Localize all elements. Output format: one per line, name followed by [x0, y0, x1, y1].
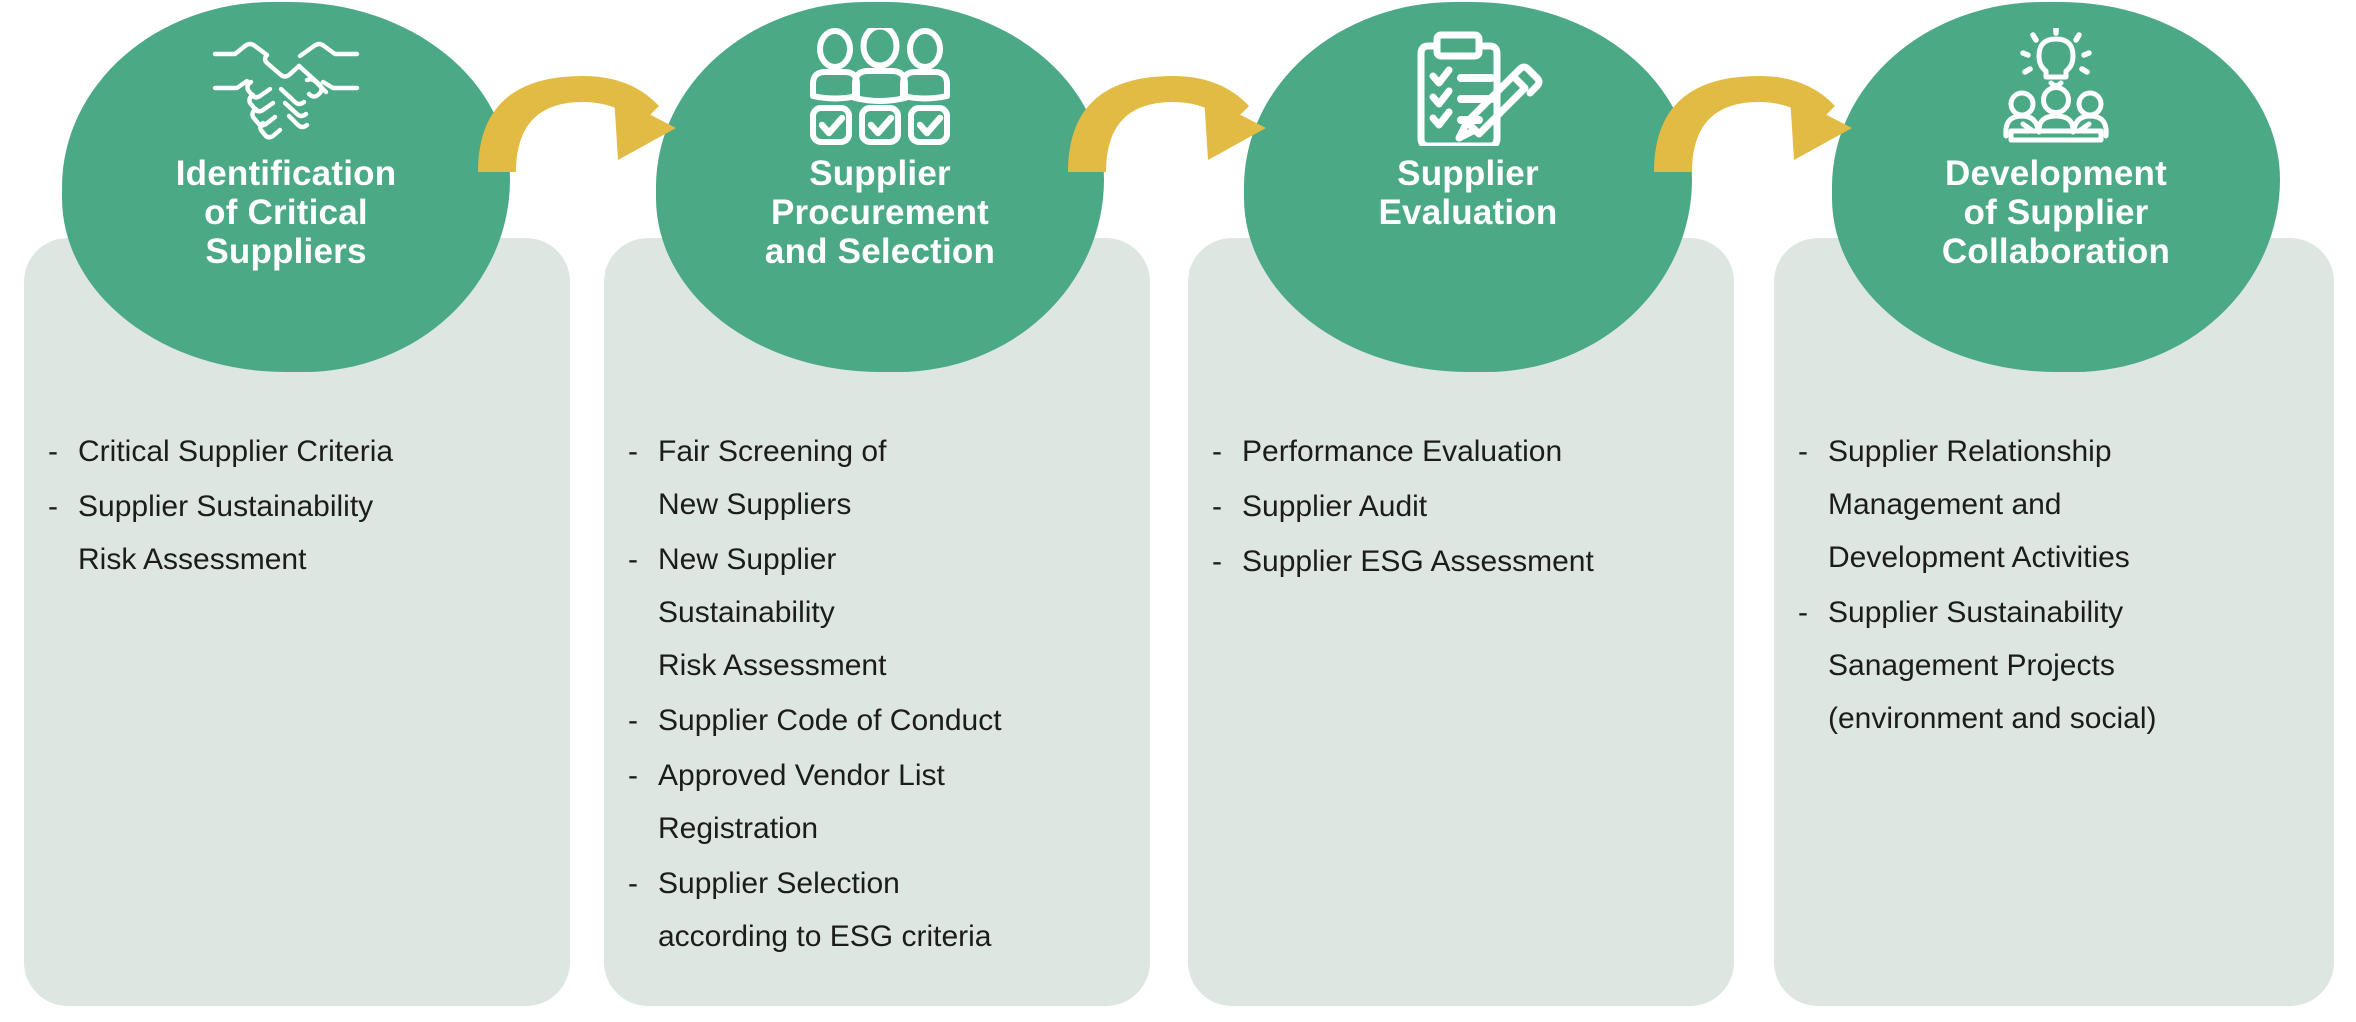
list-item-text: Supplier Sustainability Risk Assessment [78, 480, 548, 586]
list-item: - Supplier Sustainability Risk Assessmen… [48, 480, 548, 586]
step-title-2: Supplier Procurement and Selection [765, 154, 995, 271]
bullet-marker: - [1798, 586, 1828, 639]
list-item-text: Performance Evaluation [1242, 425, 1722, 478]
step-title-4: Development of Supplier Collaboration [1942, 154, 2170, 271]
people-checklist-icon [805, 28, 955, 146]
bullet-marker: - [1798, 425, 1828, 478]
step-bullets-2: - Fair Screening of New Suppliers - New … [628, 425, 1138, 965]
bullet-marker: - [628, 694, 658, 747]
step-title-1: Identification of Critical Suppliers [176, 154, 397, 271]
list-item: - Supplier Selection according to ESG cr… [628, 857, 1138, 963]
list-item-text: Supplier Code of Conduct [658, 694, 1138, 747]
list-item: - Supplier Sustainability Sanagement Pro… [1798, 586, 2318, 745]
handshake-icon [211, 28, 361, 146]
list-item: - Approved Vendor List Registration [628, 749, 1138, 855]
step-bullets-3: - Performance Evaluation - Supplier Audi… [1212, 425, 1722, 590]
bullet-marker: - [628, 533, 658, 586]
bullet-marker: - [628, 857, 658, 910]
list-item: - Supplier Relationship Management and D… [1798, 425, 2318, 584]
bullet-marker: - [1212, 425, 1242, 478]
list-item: - Critical Supplier Criteria [48, 425, 548, 478]
step-circle-3[interactable]: Supplier Evaluation [1244, 2, 1692, 372]
list-item-text: New Supplier Sustainability Risk Assessm… [658, 533, 1138, 692]
step-bullets-4: - Supplier Relationship Management and D… [1798, 425, 2318, 747]
list-item-text: Supplier Sustainability Sanagement Proje… [1828, 586, 2318, 745]
clipboard-pencil-icon [1393, 28, 1543, 146]
list-item-text: Approved Vendor List Registration [658, 749, 1138, 855]
bullet-marker: - [1212, 480, 1242, 533]
list-item-text: Fair Screening of New Suppliers [658, 425, 1138, 531]
step-title-3: Supplier Evaluation [1379, 154, 1558, 232]
list-item: - New Supplier Sustainability Risk Asses… [628, 533, 1138, 692]
bullet-marker: - [48, 425, 78, 478]
list-item-text: Supplier Relationship Management and Dev… [1828, 425, 2318, 584]
step-circle-1[interactable]: Identification of Critical Suppliers [62, 2, 510, 372]
process-diagram: Identification of Critical Suppliers [0, 0, 2356, 1022]
list-item-text: Critical Supplier Criteria [78, 425, 548, 478]
flow-arrow-3-to-4 [1638, 44, 1868, 174]
flow-arrow-2-to-3 [1052, 44, 1282, 174]
list-item: - Supplier Code of Conduct [628, 694, 1138, 747]
list-item: - Fair Screening of New Suppliers [628, 425, 1138, 531]
step-bullets-1: - Critical Supplier Criteria - Supplier … [48, 425, 548, 588]
list-item: - Supplier Audit [1212, 480, 1722, 533]
list-item: - Performance Evaluation [1212, 425, 1722, 478]
step-circle-4[interactable]: Development of Supplier Collaboration [1832, 2, 2280, 372]
list-item-text: Supplier ESG Assessment [1242, 535, 1722, 588]
flow-arrow-1-to-2 [462, 44, 692, 174]
bullet-marker: - [48, 480, 78, 533]
list-item: - Supplier ESG Assessment [1212, 535, 1722, 588]
bullet-marker: - [628, 425, 658, 478]
list-item-text: Supplier Selection according to ESG crit… [658, 857, 1138, 963]
list-item-text: Supplier Audit [1242, 480, 1722, 533]
step-circle-2[interactable]: Supplier Procurement and Selection [656, 2, 1104, 372]
bullet-marker: - [628, 749, 658, 802]
lightbulb-team-icon [1981, 28, 2131, 146]
bullet-marker: - [1212, 535, 1242, 588]
